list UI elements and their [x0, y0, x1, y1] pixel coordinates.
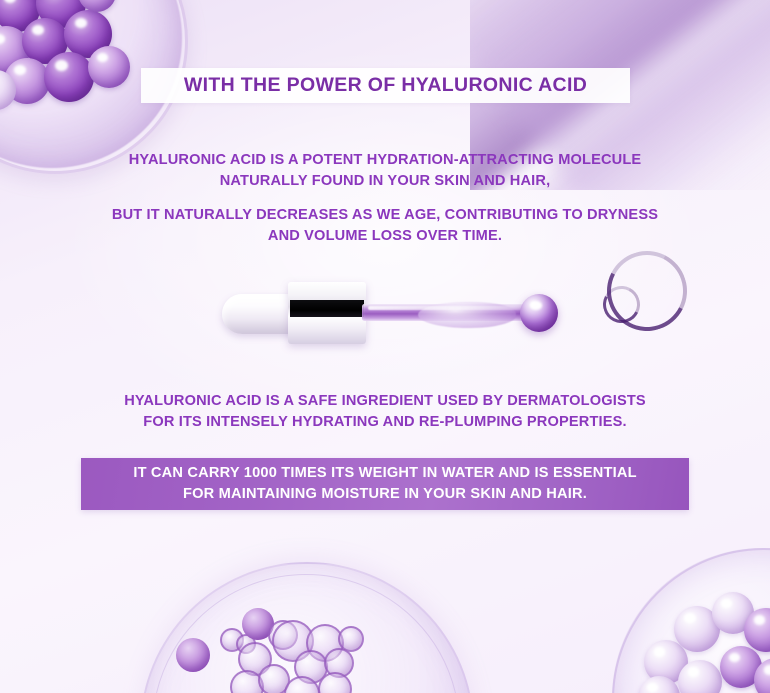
page-title: WITH THE POWER OF HYALURONIC ACID	[184, 74, 587, 97]
intro-paragraph: HYALURONIC ACID IS A POTENT HYDRATION-AT…	[0, 150, 770, 192]
paragraph-line: FOR ITS INTENSELY HYDRATING AND RE-PLUMP…	[0, 412, 770, 433]
poster-content: WITH THE POWER OF HYALURONIC ACID HYALUR…	[0, 0, 770, 693]
title-banner: WITH THE POWER OF HYALURONIC ACID	[141, 68, 630, 103]
safety-paragraph: HYALURONIC ACID IS A SAFE INGREDIENT USE…	[0, 391, 770, 433]
infographic-poster: WITH THE POWER OF HYALURONIC ACID HYALUR…	[0, 0, 770, 693]
paragraph-line: BUT IT NATURALLY DECREASES AS WE AGE, CO…	[0, 205, 770, 226]
paragraph-line: NATURALLY FOUND IN YOUR SKIN AND HAIR,	[0, 171, 770, 192]
highlight-line: FOR MAINTAINING MOISTURE IN YOUR SKIN AN…	[183, 484, 587, 505]
aging-paragraph: BUT IT NATURALLY DECREASES AS WE AGE, CO…	[0, 205, 770, 247]
paragraph-line: AND VOLUME LOSS OVER TIME.	[0, 226, 770, 247]
highlight-callout-box: IT CAN CARRY 1000 TIMES ITS WEIGHT IN WA…	[81, 458, 689, 510]
paragraph-line: HYALURONIC ACID IS A POTENT HYDRATION-AT…	[0, 150, 770, 171]
paragraph-line: HYALURONIC ACID IS A SAFE INGREDIENT USE…	[0, 391, 770, 412]
highlight-line: IT CAN CARRY 1000 TIMES ITS WEIGHT IN WA…	[133, 463, 636, 484]
